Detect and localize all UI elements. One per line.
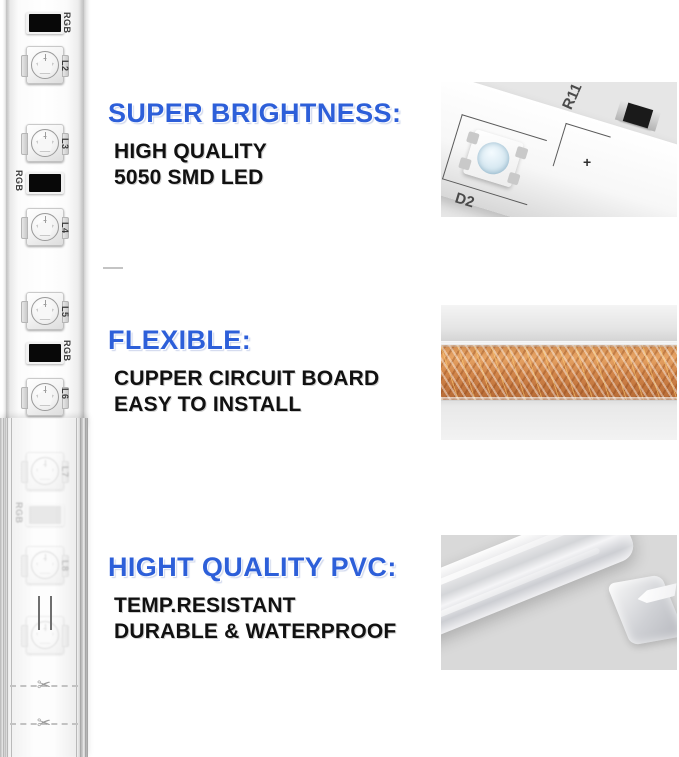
- silkscreen-label-l7: L7: [60, 466, 70, 478]
- led-chip: [26, 292, 64, 330]
- chip-body: [29, 174, 61, 192]
- silkscreen-label-l4: L4: [60, 222, 70, 234]
- chip-body: [29, 506, 61, 524]
- copper-circuit-board-photo: [441, 305, 677, 440]
- silkscreen-label-l3: L3: [60, 138, 70, 150]
- led-solder-tab-left: [21, 133, 28, 155]
- led-strip-column: RGB L2 L3 RGB L4 L5: [0, 0, 96, 757]
- chip-body: [29, 344, 61, 362]
- silkscreen-label-l8: L8: [60, 560, 70, 572]
- scissors-icon: ✂: [37, 677, 51, 694]
- led-solder-tab-right: [62, 625, 69, 647]
- product-feature-infographic: RGB L2 L3 RGB L4 L5: [0, 0, 679, 757]
- scissors-icon: ✂: [37, 715, 51, 732]
- silkscreen-label-l6: L6: [60, 388, 70, 400]
- feature-heading: HIGHT QUALITY PVC:: [108, 552, 397, 583]
- rgb-driver-chip: [26, 172, 64, 194]
- led-lens: [31, 383, 59, 411]
- pvc-sleeve-ridge-line: [11, 418, 12, 757]
- lead-wire: [50, 596, 52, 630]
- led-lens: [31, 551, 59, 579]
- pcb-silkscreen-outline: [553, 123, 611, 180]
- copper-braid-band: [441, 345, 677, 400]
- led-solder-tab-left: [21, 217, 28, 239]
- feature-body: HIGH QUALITY 5050 SMD LED: [114, 139, 401, 190]
- feature-block-hight-quality-pvc: HIGHT QUALITY PVC: TEMP.RESISTANT DURABL…: [108, 552, 397, 644]
- chip-body: [29, 14, 61, 32]
- led-lens: [31, 621, 59, 649]
- led-lens: [31, 297, 59, 325]
- silkscreen-label-rgb: RGB: [14, 502, 24, 524]
- feature-heading: FLEXIBLE:: [108, 325, 379, 356]
- led-chip: [26, 124, 64, 162]
- rgb-driver-chip: [26, 342, 64, 364]
- lead-wire: [38, 596, 40, 630]
- led-chip: [26, 208, 64, 246]
- rgb-driver-chip: [26, 12, 64, 34]
- pvc-sleeve-upper: [441, 305, 677, 345]
- silkscreen-label-l5: L5: [60, 306, 70, 318]
- pvc-sleeve-ridge-line: [85, 418, 86, 757]
- led-solder-tab-left: [21, 555, 28, 577]
- feature-body: TEMP.RESISTANT DURABLE & WATERPROOF: [114, 593, 397, 644]
- pvc-sleeve-ridge-line: [76, 418, 77, 757]
- led-solder-tab-left: [21, 461, 28, 483]
- feature-block-flexible: FLEXIBLE: CUPPER CIRCUIT BOARD EASY TO I…: [108, 325, 379, 417]
- pvc-tube-end-photo: [441, 535, 677, 670]
- led-solder-tab-left: [21, 387, 28, 409]
- silkscreen-label-l2: L2: [60, 60, 70, 72]
- led-chip: [26, 378, 64, 416]
- smd-led-macro-photo: R11 D2 +: [441, 82, 677, 217]
- band-edge-highlight: [441, 343, 677, 347]
- silkscreen-label-rgb: RGB: [14, 170, 24, 192]
- band-edge-highlight: [441, 397, 677, 401]
- pvc-sleeve-ridge-line: [80, 418, 81, 757]
- section-divider: [103, 267, 123, 269]
- led-lens: [31, 213, 59, 241]
- silkscreen-text-plus: +: [583, 154, 591, 170]
- led-chip: [26, 452, 64, 490]
- cut-marker: ✂: [10, 714, 78, 732]
- led-chip: [26, 546, 64, 584]
- led-solder-tab-left: [21, 301, 28, 323]
- led-lens: [31, 129, 59, 157]
- feature-block-super-brightness: SUPER BRIGHTNESS: HIGH QUALITY 5050 SMD …: [108, 98, 401, 190]
- led-lens: [31, 51, 59, 79]
- pvc-sleeve-ridge-line: [7, 418, 8, 757]
- rgb-driver-chip: [26, 504, 64, 526]
- led-chip: [26, 46, 64, 84]
- feature-body: CUPPER CIRCUIT BOARD EASY TO INSTALL: [114, 366, 379, 417]
- cut-marker: ✂: [10, 676, 78, 694]
- led-solder-tab-left: [21, 55, 28, 77]
- feature-heading: SUPER BRIGHTNESS:: [108, 98, 401, 129]
- led-chip: [26, 616, 64, 654]
- pvc-sleeve-ridge-line: [3, 418, 4, 757]
- led-solder-tab-left: [21, 625, 28, 647]
- led-lens: [31, 457, 59, 485]
- silkscreen-label-rgb: RGB: [62, 340, 72, 362]
- silkscreen-label-rgb: RGB: [62, 12, 72, 34]
